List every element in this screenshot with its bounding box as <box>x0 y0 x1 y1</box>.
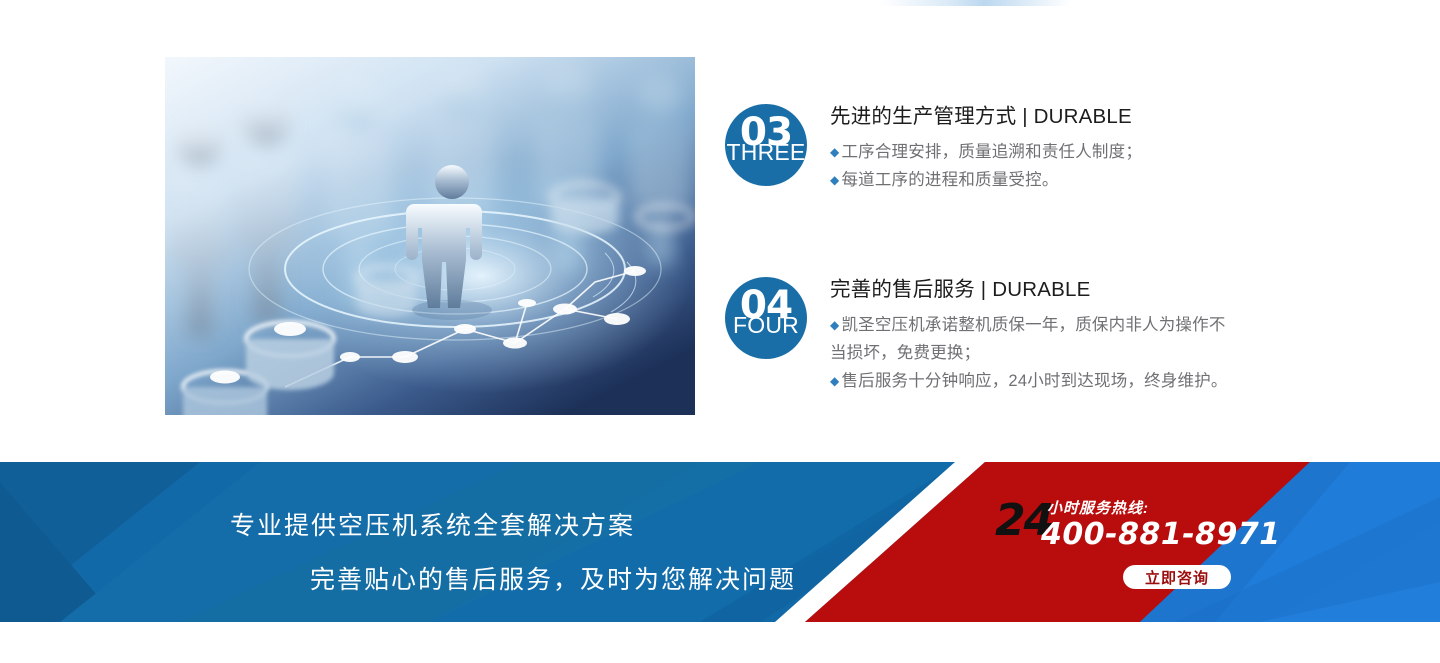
feature-line-text: 每道工序的进程和质量受控。 <box>841 171 1058 189</box>
badge-word: FOUR <box>725 312 807 338</box>
feature-block-03: 03 THREE 先进的生产管理方式 | DURABLE ◆工序合理安排，质量追… <box>725 104 1250 194</box>
badge-word: THREE <box>725 139 807 165</box>
bullet-diamond-icon: ◆ <box>830 374 839 388</box>
feature-line-text: 售后服务十分钟响应，24小时到达现场，终身维护。 <box>841 372 1227 390</box>
hotline-phone-number: 400-881-8971 <box>1041 517 1281 552</box>
feature-lines: ◆凯圣空压机承诺整机质保一年，质保内非人为操作不当损坏，免费更换； ◆售后服务十… <box>830 311 1242 395</box>
bullet-diamond-icon: ◆ <box>830 145 839 159</box>
feature-title: 先进的生产管理方式 | DURABLE <box>830 104 1250 130</box>
badge-04: 04 FOUR <box>725 277 807 359</box>
feature-lines: ◆工序合理安排，质量追溯和责任人制度； ◆每道工序的进程和质量受控。 <box>830 138 1250 194</box>
badge-03: 03 THREE <box>725 104 807 186</box>
feature-text-04: 完善的售后服务 | DURABLE ◆凯圣空压机承诺整机质保一年，质保内非人为操… <box>830 277 1242 395</box>
bullet-diamond-icon: ◆ <box>830 173 839 187</box>
hotline-group: 24 小时服务热线: 400-881-8971 <box>995 495 1255 565</box>
network-people-concept-image <box>165 57 695 415</box>
hotline-label: 小时服务热线: <box>1047 497 1149 518</box>
feature-block-04: 04 FOUR 完善的售后服务 | DURABLE ◆凯圣空压机承诺整机质保一年… <box>725 277 1242 395</box>
consult-now-button[interactable]: 立即咨询 <box>1123 565 1231 589</box>
top-gradient-strip <box>880 0 1070 6</box>
bullet-diamond-icon: ◆ <box>830 318 839 332</box>
promo-page: 03 THREE 先进的生产管理方式 | DURABLE ◆工序合理安排，质量追… <box>0 0 1440 663</box>
feature-line-text: 凯圣空压机承诺整机质保一年，质保内非人为操作不当损坏，免费更换； <box>830 316 1226 362</box>
feature-line-text: 工序合理安排，质量追溯和责任人制度； <box>841 143 1142 161</box>
feature-line: ◆凯圣空压机承诺整机质保一年，质保内非人为操作不当损坏，免费更换； <box>830 311 1242 367</box>
feature-line: ◆每道工序的进程和质量受控。 <box>830 166 1250 194</box>
feature-text-03: 先进的生产管理方式 | DURABLE ◆工序合理安排，质量追溯和责任人制度； … <box>830 104 1250 194</box>
feature-line: ◆工序合理安排，质量追溯和责任人制度； <box>830 138 1250 166</box>
feature-line: ◆售后服务十分钟响应，24小时到达现场，终身维护。 <box>830 367 1242 395</box>
feature-title: 完善的售后服务 | DURABLE <box>830 277 1242 303</box>
